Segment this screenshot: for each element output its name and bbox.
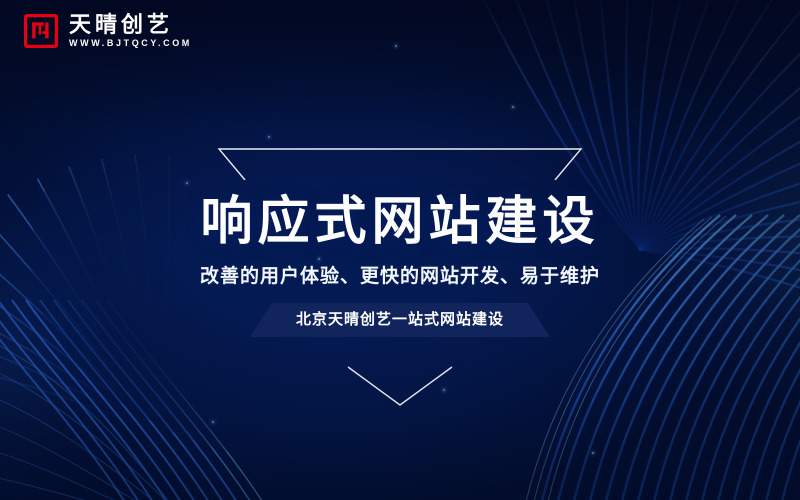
bottom-chevron-down-icon bbox=[340, 365, 460, 409]
hero-subtitle: 改善的用户体验、更快的网站开发、易于维护 bbox=[0, 266, 800, 289]
promo-banner: 天晴创艺 WWW.BJTQCY.COM 响应式网站建设 改善的用户体验、更快的网… bbox=[0, 0, 800, 500]
tianqing-chuangyi-logo-mark bbox=[24, 14, 58, 48]
top-bracket-line bbox=[217, 140, 583, 180]
hero-tagline-wrap: 北京天晴创艺一站式网站建设 bbox=[250, 303, 550, 337]
logo-company-name: 天晴创艺 bbox=[69, 14, 192, 36]
hero-tagline-text: 北京天晴创艺一站式网站建设 bbox=[296, 312, 504, 328]
hero-tagline-box: 北京天晴创艺一站式网站建设 bbox=[250, 303, 550, 337]
hero-title: 响应式网站建设 bbox=[0, 194, 800, 250]
hero-content: 响应式网站建设 改善的用户体验、更快的网站开发、易于维护 北京天晴创艺一站式网站… bbox=[0, 140, 800, 409]
brand-logo[interactable]: 天晴创艺 WWW.BJTQCY.COM bbox=[24, 14, 192, 48]
logo-website-url: WWW.BJTQCY.COM bbox=[69, 39, 192, 48]
logo-text-block: 天晴创艺 WWW.BJTQCY.COM bbox=[69, 14, 192, 48]
